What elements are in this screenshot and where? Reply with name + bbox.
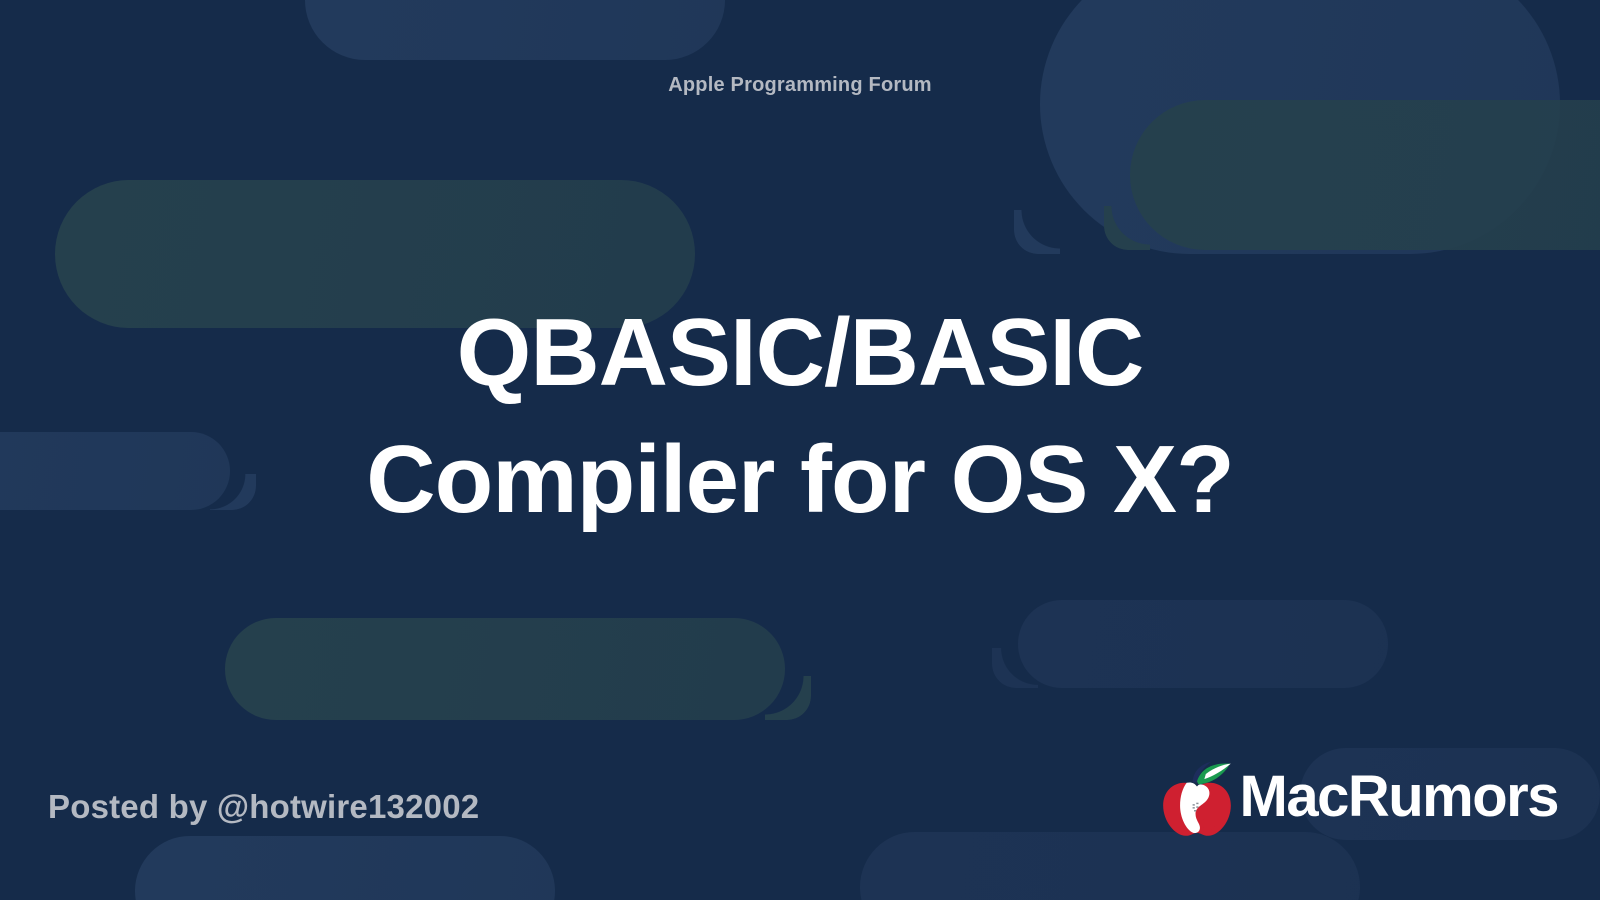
bubble-tail [1014, 210, 1060, 254]
bubble-tail [1104, 206, 1150, 250]
macrumors-wordmark: MacRumors [1240, 768, 1558, 830]
bubble-body [1040, 0, 1560, 254]
macrumors-logo[interactable]: MacRumors [1160, 760, 1558, 838]
bubble-body [305, 0, 725, 60]
bubble-lower-left-teal [225, 618, 785, 720]
bubble-body [1018, 600, 1388, 688]
bubble-bottom-left [135, 836, 555, 900]
bubble-bottom-right [860, 832, 1360, 900]
social-share-card: Apple Programming Forum QBASIC/BASIC Com… [0, 0, 1600, 900]
posted-by-label: Posted by @hotwire132002 [48, 788, 479, 826]
bubble-body [225, 618, 785, 720]
forum-label: Apple Programming Forum [0, 74, 1600, 97]
bubble-mid-right-teal [1130, 100, 1600, 250]
bubble-top-right [1040, 0, 1560, 254]
bubble-body [860, 832, 1360, 900]
page-title-line-1: QBASIC/BASIC [60, 290, 1540, 417]
bubble-tail [765, 676, 811, 720]
macrumors-apple-icon [1160, 760, 1234, 838]
bubble-body [1130, 100, 1600, 250]
bubble-body [135, 836, 555, 900]
page-title: QBASIC/BASIC Compiler for OS X? [0, 290, 1600, 543]
bubble-top-left [305, 0, 725, 60]
bubble-lower-right [1018, 600, 1388, 688]
page-title-line-2: Compiler for OS X? [60, 417, 1540, 544]
bubble-tail [992, 648, 1038, 688]
